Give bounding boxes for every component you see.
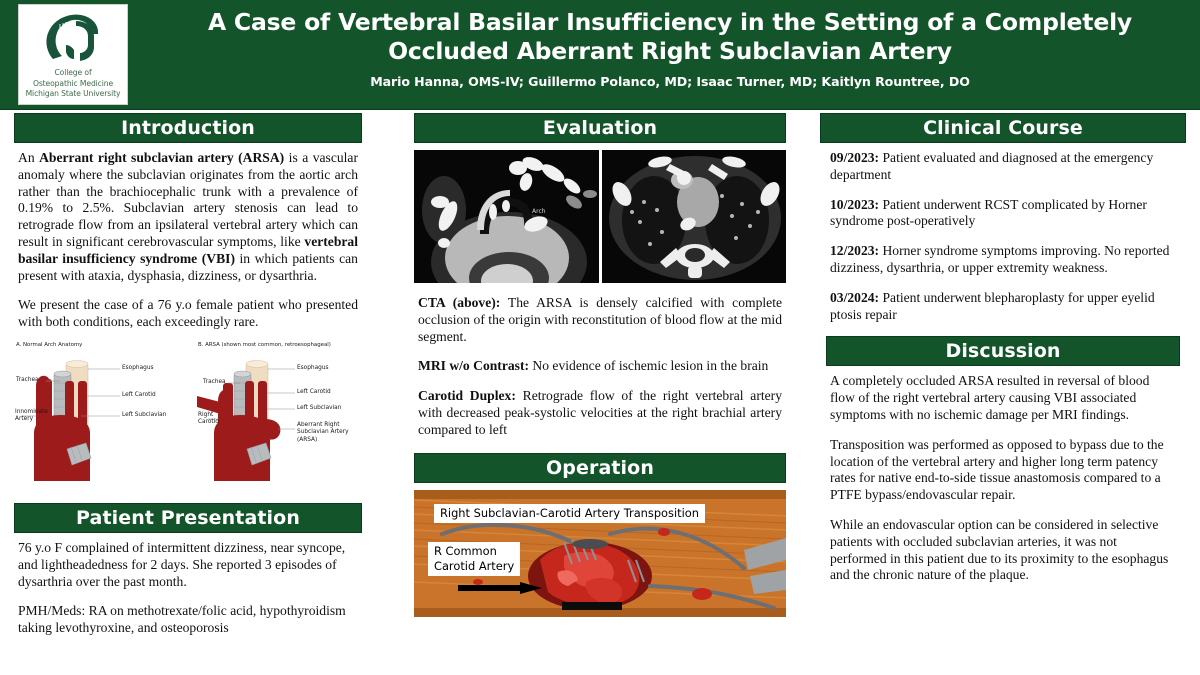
anatomy-b-label-esophagus: Esophagus [297,365,329,372]
anatomy-a-label-left-carotid: Left Carotid [122,392,156,399]
patient-presentation-paragraph-1: 76 y.o F complained of intermittent dizz… [18,540,358,590]
section-header-patient-presentation: Patient Presentation [14,503,362,533]
evaluation-duplex-paragraph: Carotid Duplex: Retrograde flow of the r… [418,388,782,438]
discussion-body: A completely occluded ARSA resulted in r… [820,373,1186,584]
anatomy-b-label-left-subclavian: Left Subclavian [297,405,341,412]
operation-pointer-arrow [458,582,542,594]
section-title-evaluation: Evaluation [543,117,657,139]
operation-label-transposition: Right Subclavian-Carotid Artery Transpos… [434,504,705,523]
evaluation-image-row: Arch [414,150,786,283]
poster-header-banner: College of Osteopathic Medicine Michigan… [0,0,1200,110]
ct-annotation-arch: Arch [532,208,546,215]
evaluation-mri-paragraph: MRI w/o Contrast: No evidence of ischemi… [418,358,782,375]
section-title-clinical-course: Clinical Course [923,117,1083,139]
introduction-paragraph-1: An Aberrant right subclavian artery (ARS… [18,150,358,284]
anatomy-b-label-left-carotid: Left Carotid [297,389,331,396]
anatomy-a-label-innominate: Innominate Artery [15,409,48,424]
spartan-helmet-icon [36,9,110,67]
anatomy-b-label-arsa: Aberrant Right Subclavian Artery (ARSA) [297,422,349,444]
anatomy-b-label-right-carotid: Right Carotid [198,412,219,427]
clinical-course-entry: 03/2024: Patient underwent blepharoplast… [830,290,1176,324]
anatomy-caption-b: B. ARSA (shown most common, retroesophag… [198,342,331,348]
patient-presentation-paragraph-2: PMH/Meds: RA on methotrexate/folic acid,… [18,603,358,637]
clinical-course-entry: 12/2023: Horner syndrome symptoms improv… [830,243,1176,277]
discussion-paragraph-1: A completely occluded ARSA resulted in r… [830,373,1176,423]
patient-presentation-body: 76 y.o F complained of intermittent dizz… [14,540,362,637]
section-title-operation: Operation [546,457,654,479]
anatomy-a-label-trachea: Trachea [16,377,39,384]
section-header-clinical-course: Clinical Course [820,113,1186,143]
logo-line-1: College of [54,68,91,78]
author-list: Mario Hanna, OMS-IV; Guillermo Polanco, … [150,74,1190,89]
introduction-paragraph-2: We present the case of a 76 y.o female p… [18,297,358,331]
section-title-discussion: Discussion [945,340,1060,362]
logo-line-3: Michigan State University [26,89,121,99]
operation-label-carotid: R Common Carotid Artery [428,542,520,576]
cta-sagittal-image: Arch [414,150,599,283]
ct-axial-image [602,150,787,283]
column-right: Clinical Course 09/2023: Patient evaluat… [820,113,1186,584]
operation-photo: Right Subclavian-Carotid Artery Transpos… [414,490,786,617]
logo-line-2: Osteopathic Medicine [33,79,113,89]
poster-board: Introduction An Aberrant right subclavia… [0,110,1200,675]
evaluation-cta-paragraph: CTA (above): The ARSA is densely calcifi… [418,295,782,345]
arch-anatomy-figure: A. Normal Arch Anatomy B. ARSA (shown mo… [14,341,362,493]
anatomy-b-label-trachea: Trachea [203,379,226,386]
section-header-discussion: Discussion [826,336,1180,366]
section-title-patient-presentation: Patient Presentation [76,507,300,529]
column-middle: Evaluation [414,113,786,617]
banner-text-block: A Case of Vertebral Basilar Insufficienc… [150,8,1190,89]
clinical-course-entry: 10/2023: Patient underwent RCST complica… [830,197,1176,231]
discussion-paragraph-3: While an endovascular option can be cons… [830,517,1176,584]
discussion-paragraph-2: Transposition was performed as opposed t… [830,437,1176,504]
anatomy-a-label-left-subclavian: Left Subclavian [122,412,166,419]
msu-com-logo: College of Osteopathic Medicine Michigan… [18,4,128,105]
anatomy-caption-a: A. Normal Arch Anatomy [16,342,82,348]
page-title: A Case of Vertebral Basilar Insufficienc… [150,8,1190,66]
evaluation-body: CTA (above): The ARSA is densely calcifi… [414,295,786,439]
anatomy-a-label-esophagus: Esophagus [122,365,154,372]
clinical-course-entry: 09/2023: Patient evaluated and diagnosed… [830,150,1176,184]
introduction-body: An Aberrant right subclavian artery (ARS… [14,150,362,331]
section-header-evaluation: Evaluation [414,113,786,143]
column-left: Introduction An Aberrant right subclavia… [14,113,362,637]
section-title-introduction: Introduction [121,117,255,139]
section-header-introduction: Introduction [14,113,362,143]
section-header-operation: Operation [414,453,786,483]
clinical-course-body: 09/2023: Patient evaluated and diagnosed… [820,150,1186,323]
